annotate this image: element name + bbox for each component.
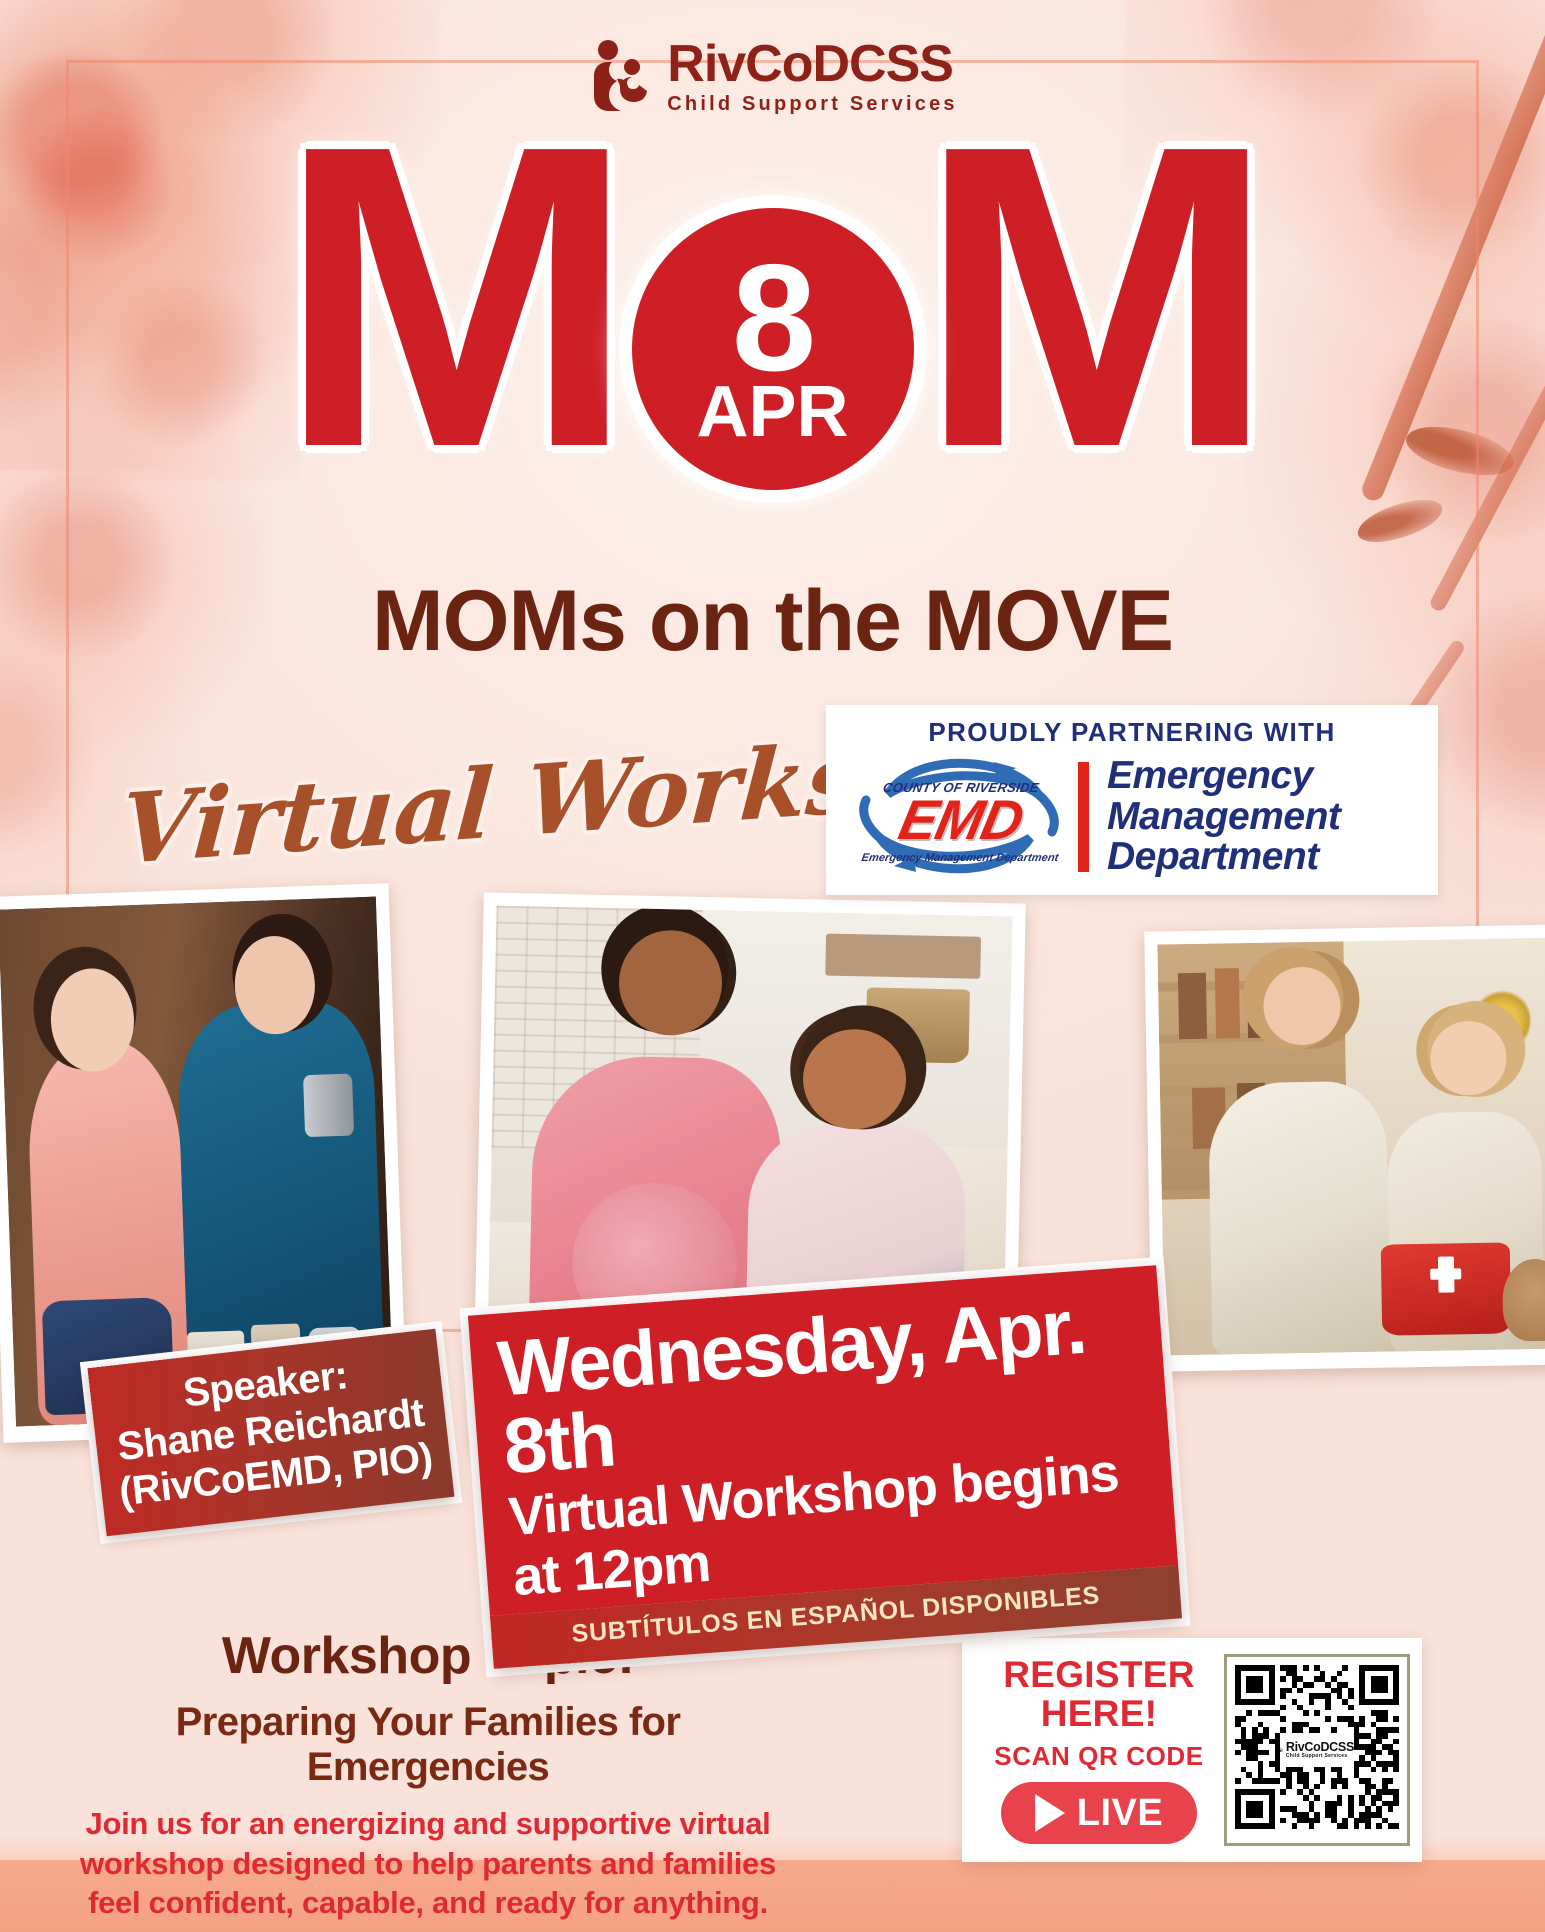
workshop-topic-block: Workshop Topic: Preparing Your Families … xyxy=(78,1626,778,1923)
brand-name: RivCoDCSS xyxy=(667,38,957,90)
event-details-banner: Wednesday, Apr. 8th Virtual Workshop beg… xyxy=(468,1265,1182,1669)
brand-logo: RivCoDCSS Child Support Services xyxy=(0,38,1545,114)
live-label: LIVE xyxy=(1077,1792,1163,1835)
partner-name-line-1: Emergency xyxy=(1107,756,1340,797)
brand-tagline: Child Support Services xyxy=(667,94,957,114)
parent-child-icon-small xyxy=(1280,1743,1283,1757)
workshop-description-line-1: Join us for an energizing and supportive… xyxy=(78,1804,778,1844)
scan-qr-label: SCAN QR CODE xyxy=(974,1741,1224,1772)
partner-card: PROUDLY PARTNERING WITH COUNTY OF RIVERS… xyxy=(826,705,1438,895)
register-title-line-2: HERE! xyxy=(974,1695,1224,1734)
parent-child-icon xyxy=(587,39,651,113)
flyer-canvas: RivCoDCSS Child Support Services M M 8 A… xyxy=(0,0,1545,1932)
partner-heading: PROUDLY PARTNERING WITH xyxy=(844,717,1420,748)
workshop-description: Join us for an energizing and supportive… xyxy=(78,1804,778,1923)
partner-name-line-3: Department xyxy=(1107,837,1340,878)
event-date-day: 8 xyxy=(732,253,814,384)
photo-mom-child-firstaid xyxy=(1144,924,1545,1371)
workshop-description-line-2: workshop designed to help parents and fa… xyxy=(78,1844,778,1884)
workshop-description-line-3: feel confident, capable, and ready for a… xyxy=(78,1883,778,1923)
leaf-decor-2 xyxy=(1353,494,1447,548)
wordmark-letter-m-right: M xyxy=(918,130,1268,465)
wordmark-letter-m-left: M xyxy=(277,130,627,465)
register-title-line-1: REGISTER xyxy=(974,1656,1224,1695)
emd-logo-icon: COUNTY OF RIVERSIDE EMD Emergency Manage… xyxy=(844,754,1074,880)
partner-name-line-2: Management xyxy=(1107,797,1340,838)
registration-card[interactable]: REGISTER HERE! SCAN QR CODE LIVE RivCoDC… xyxy=(962,1638,1422,1862)
partner-name: Emergency Management Department xyxy=(1107,756,1340,878)
emd-acronym: EMD xyxy=(860,792,1062,848)
qr-center-tagline: Child Support Services xyxy=(1286,1754,1354,1759)
workshop-topic-subject: Preparing Your Families for Emergencies xyxy=(78,1700,778,1790)
qr-code-icon[interactable]: RivCoDCSS Child Support Services xyxy=(1224,1654,1410,1846)
live-badge[interactable]: LIVE xyxy=(1001,1782,1197,1844)
qr-center-logo: RivCoDCSS Child Support Services xyxy=(1280,1733,1354,1767)
hero-tagline: MOMs on the MOVE xyxy=(0,572,1545,671)
emd-department-label: Emergency Management Department xyxy=(859,852,1061,864)
partner-divider xyxy=(1078,762,1089,872)
event-date-month: APR xyxy=(696,380,848,445)
qr-center-brand: RivCoDCSS xyxy=(1286,1741,1354,1754)
play-triangle-icon xyxy=(1035,1794,1065,1832)
event-date-badge: 8 APR xyxy=(632,208,914,490)
